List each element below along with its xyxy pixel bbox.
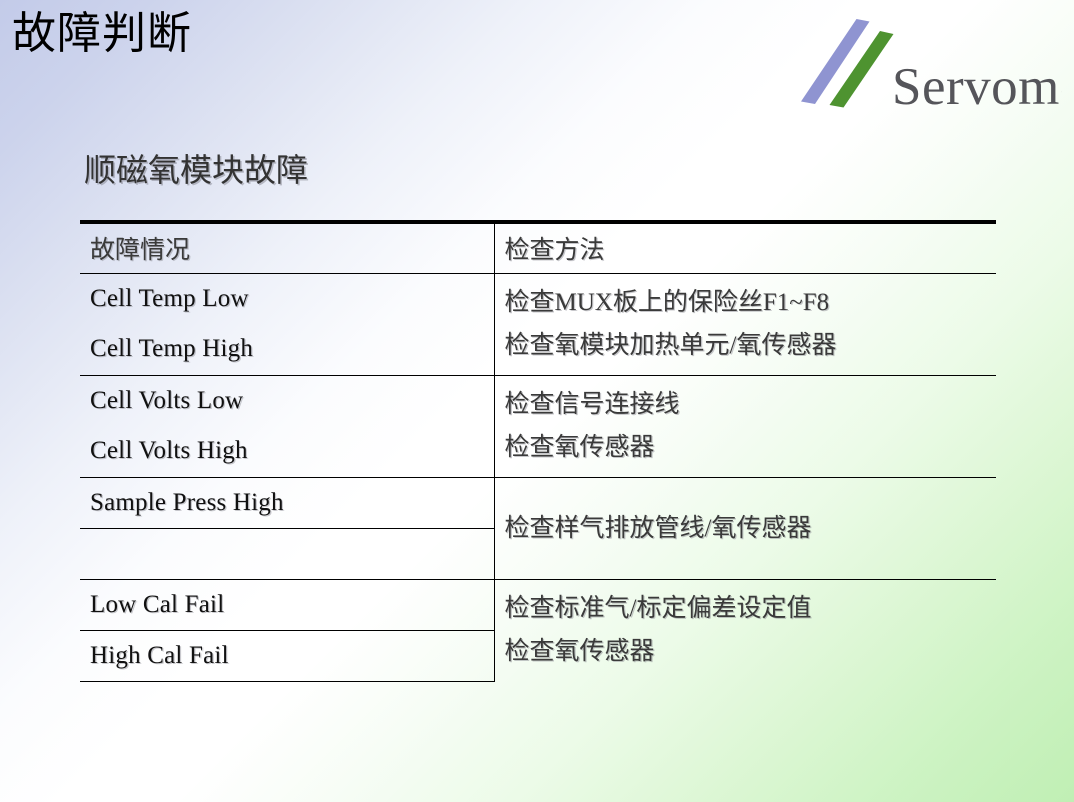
fault-cell: Cell Temp High [80,324,494,375]
method-cell: 检查标准气/标定偏差设定值 检查氧传感器 [494,579,996,681]
fault-table-container: 故障情况 检查方法 Cell Temp Low 检查MUX板上的保险丝F1~F8 [80,220,996,670]
table-row: Cell Volts Low 检查信号连接线 检查氧传感器 [80,375,996,426]
method-text: 检查信号连接线 检查氧传感器 [505,383,997,469]
logo-wordmark: Servomex [892,58,1062,116]
fault-label: High Cal Fail [90,642,229,669]
table-header-method-label: 检查方法 [505,237,605,264]
method-cell: 检查样气排放管线/氧传感器 [494,477,996,579]
fault-diagnosis-table: 故障情况 检查方法 Cell Temp Low 检查MUX板上的保险丝F1~F8 [80,220,996,682]
servomex-logo: Servomex [790,12,1062,124]
fault-label: Low Cal Fail [90,591,224,618]
method-line: 检查MUX板上的保险丝F1~F8 [505,281,997,324]
fault-cell: Low Cal Fail [80,579,494,630]
method-text: 检查标准气/标定偏差设定值 检查氧传感器 [505,587,997,673]
method-line: 检查样气排放管线/氧传感器 [505,507,997,550]
method-text: 检查样气排放管线/氧传感器 [505,507,997,550]
slide-canvas: 故障判断 Servomex 顺磁氧模块故障 故障情况 检查方法 [0,0,1074,802]
fault-cell: Cell Volts Low [80,375,494,426]
fault-cell: Sample Press High [80,477,494,528]
method-line: 检查标准气/标定偏差设定值 [505,587,997,630]
method-line: 检查氧传感器 [505,426,997,469]
fault-label: Cell Temp Low [90,285,249,312]
table-header-fault: 故障情况 [80,222,494,273]
fault-label: Cell Temp High [90,335,253,362]
fault-label: Cell Volts Low [90,387,243,414]
method-line: 检查信号连接线 [505,383,997,426]
method-cell: 检查信号连接线 检查氧传感器 [494,375,996,477]
table-header-method: 检查方法 [494,222,996,273]
table-row: Sample Press High 检查样气排放管线/氧传感器 [80,477,996,528]
servomex-logo-svg: Servomex [790,12,1062,124]
table-header-fault-label: 故障情况 [90,237,190,264]
fault-cell: Cell Volts High [80,426,494,477]
fault-label: Sample Press High [90,489,284,516]
table-row: Cell Temp Low 检查MUX板上的保险丝F1~F8 检查氧模块加热单元… [80,273,996,324]
method-cell: 检查MUX板上的保险丝F1~F8 检查氧模块加热单元/氧传感器 [494,273,996,375]
section-subtitle: 顺磁氧模块故障 [84,145,308,191]
fault-cell: High Cal Fail [80,630,494,681]
fault-cell-empty [80,528,494,579]
method-line: 检查氧模块加热单元/氧传感器 [505,324,997,367]
logo-stroke-green-icon [830,31,894,108]
table-header-row: 故障情况 检查方法 [80,222,996,273]
table-row: Low Cal Fail 检查标准气/标定偏差设定值 检查氧传感器 [80,579,996,630]
method-text: 检查MUX板上的保险丝F1~F8 检查氧模块加热单元/氧传感器 [505,281,997,367]
method-line: 检查氧传感器 [505,630,997,673]
page-title: 故障判断 [12,8,192,61]
fault-label: Cell Volts High [90,437,248,464]
fault-cell: Cell Temp Low [80,273,494,324]
